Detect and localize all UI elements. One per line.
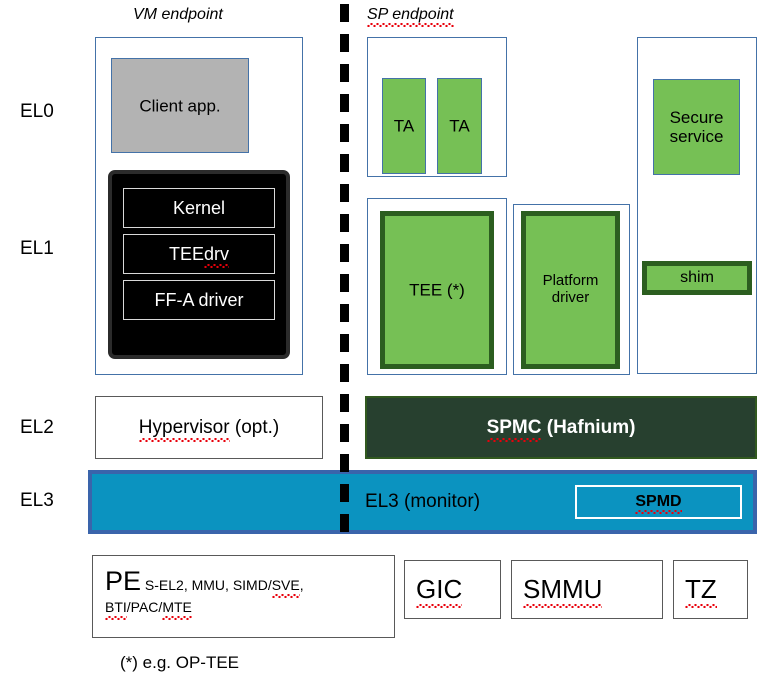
separator-dash — [340, 274, 349, 292]
el1-label: EL1 — [20, 238, 54, 260]
tee-drv-box: TEE drv — [123, 234, 275, 274]
hypervisor-label-a: Hypervisor — [139, 417, 230, 439]
pe-features-line2-a: BTI — [105, 597, 127, 617]
separator-dash — [340, 304, 349, 322]
kernel-stack-container: Kernel TEE drv FF-A driver — [108, 170, 290, 359]
kernel-box: Kernel — [123, 188, 275, 228]
vm-endpoint-label: VM endpoint — [133, 6, 223, 24]
separator-dash — [340, 184, 349, 202]
pe-features-line1-b: SVE — [272, 575, 300, 595]
smmu-label: SMMU — [523, 574, 602, 605]
tee-drv-label-b: drv — [204, 244, 229, 265]
pe-features-line2-b: /PAC/ — [127, 599, 163, 615]
tz-label: TZ — [685, 574, 717, 605]
platform-driver-label: Platform driver — [526, 273, 615, 307]
pe-features-line1-a: S-EL2, MMU, SIMD/ — [145, 577, 272, 593]
ffa-driver-box: FF-A driver — [123, 280, 275, 320]
ffa-driver-label: FF-A driver — [154, 290, 243, 311]
client-app-label: Client app. — [112, 96, 248, 115]
separator-dash — [340, 394, 349, 412]
footnote-label: (*) e.g. OP-TEE — [120, 653, 239, 673]
gic-box: GIC — [404, 560, 501, 619]
platform-driver-line1: Platform — [543, 272, 599, 289]
separator-dash — [340, 364, 349, 382]
spmc-box: SPMC (Hafnium) — [365, 396, 757, 459]
kernel-label: Kernel — [173, 198, 225, 219]
separator-dash — [340, 424, 349, 442]
hypervisor-label-b: (opt.) — [230, 417, 280, 438]
tee-box: TEE (*) — [380, 211, 494, 369]
separator-dash — [340, 514, 349, 532]
el3-label: EL3 — [20, 490, 54, 512]
spmd-box: SPMD — [575, 485, 742, 519]
platform-driver-line2: driver — [552, 289, 590, 306]
tee-drv-label-a: TEE — [169, 244, 204, 265]
spmd-label: SPMD — [635, 493, 681, 511]
secure-service-box: Secure service — [653, 79, 740, 175]
secure-service-line2: service — [670, 127, 724, 146]
separator-dash — [340, 154, 349, 172]
separator-dash — [340, 124, 349, 142]
separator-dash — [340, 34, 349, 52]
pe-features-line1-c: , — [300, 577, 304, 593]
ta-label-2: TA — [438, 116, 481, 135]
platform-driver-box: Platform driver — [521, 211, 620, 369]
separator-dash — [340, 244, 349, 262]
spmc-label: SPMC (Hafnium) — [487, 417, 636, 439]
shim-label: shim — [647, 269, 747, 287]
separator-dash — [340, 454, 349, 472]
spmc-label-b: (Hafnium) — [541, 417, 635, 438]
el2-label: EL2 — [20, 417, 54, 439]
smmu-box: SMMU — [511, 560, 663, 619]
gic-label: GIC — [416, 574, 462, 605]
pe-features-line2-c: MTE — [162, 597, 192, 617]
shim-box: shim — [642, 261, 752, 295]
tz-box: TZ — [673, 560, 748, 619]
el0-label: EL0 — [20, 101, 54, 123]
spmc-label-a: SPMC — [487, 417, 542, 439]
secure-service-label: Secure service — [654, 108, 739, 146]
ta-box-1: TA — [382, 78, 426, 174]
pe-label: PE — [105, 566, 141, 596]
ta-label-1: TA — [383, 116, 425, 135]
separator-dash — [340, 4, 349, 22]
separator-dash — [340, 484, 349, 502]
client-app-box: Client app. — [111, 58, 249, 153]
hypervisor-label: Hypervisor (opt.) — [139, 417, 279, 439]
pe-box: PE S-EL2, MMU, SIMD/SVE,BTI/PAC/MTE — [92, 555, 395, 638]
separator-dash — [340, 64, 349, 82]
architecture-diagram: VM endpoint SP endpoint EL0 EL1 EL2 EL3 … — [0, 0, 784, 686]
ta-box-2: TA — [437, 78, 482, 174]
secure-service-line1: Secure — [670, 108, 724, 127]
tee-label: TEE (*) — [385, 280, 489, 299]
sp-endpoint-label: SP endpoint — [367, 6, 454, 24]
sp-endpoint-label-text: SP endpoint — [367, 6, 454, 24]
separator-dash — [340, 94, 349, 112]
el3-monitor-label: EL3 (monitor) — [365, 491, 480, 513]
hypervisor-box: Hypervisor (opt.) — [95, 396, 323, 459]
separator-dash — [340, 214, 349, 232]
separator-dash — [340, 334, 349, 352]
